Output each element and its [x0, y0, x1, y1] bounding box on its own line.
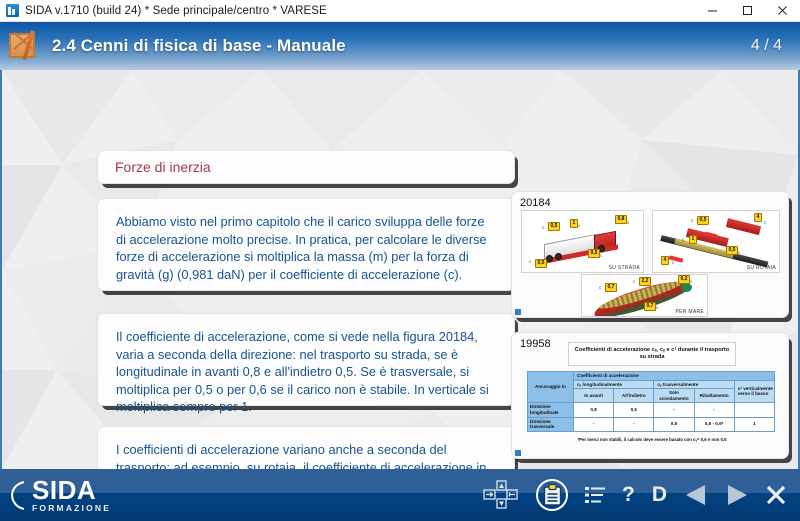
figure-corner-marker [515, 309, 521, 315]
table-cell: 0,5 [614, 403, 654, 417]
tag-road-1: 0,5 [548, 222, 560, 231]
table-colgroup-y: cᵧ trasversalmente [654, 380, 734, 389]
swoosh-icon [8, 479, 30, 513]
table-row-label-longitudinal: Direzione longitudinale [528, 403, 574, 417]
window-controls [695, 0, 800, 22]
footer-toolbar: SIDA FORMAZIONE [0, 469, 800, 521]
tag-rail-4: 0,5 [726, 246, 738, 255]
tag-sea-4: 0,7 [644, 302, 656, 311]
page-title: 2.4 Cenni di fisica di base - Manuale [52, 36, 346, 56]
figure-number-20184: 20184 [520, 197, 551, 209]
table-cell: - [614, 417, 654, 431]
tag-road-5: 0,5 [535, 259, 547, 268]
paragraph-card-2: Il coefficiente di accelerazione, come s… [97, 313, 515, 406]
section-title-card: Forze di inerzia [97, 150, 515, 184]
paragraph-text-1: Abbiamo visto nel primo capitolo che il … [116, 213, 496, 283]
next-icon[interactable] [725, 484, 749, 506]
previous-icon[interactable] [684, 484, 708, 506]
logo-secondary-text: FORMAZIONE [32, 504, 111, 513]
navigation-toolbar: ? D [483, 479, 786, 511]
tag-road-2: 1 [570, 219, 578, 228]
transport-panel-sea: c 0,7 c 2,2 0,2 c 0,7 c PER MARE [581, 274, 708, 317]
list-icon[interactable] [585, 485, 605, 505]
tag-rail-5: 4 [661, 256, 669, 265]
table-colgroup-z: cᶻ verticalmente verso il basso [734, 380, 774, 403]
transport-label-rail: SU ROTAIA [747, 265, 776, 271]
tag-rail-2: 4 [754, 213, 762, 222]
table-cell: - [574, 417, 614, 431]
tag-sea-1: 0,7 [605, 283, 617, 292]
table-subheader-forward: In avanti [574, 389, 614, 403]
table-row-label-transverse: Direzione trasversale [528, 417, 574, 431]
paragraph-text-3: I coefficienti di accelerazione variano … [116, 441, 496, 469]
table-title: Coefficienti di accelerazione cₓ, cᵧ e c… [568, 342, 736, 366]
tag-road-3: 0,8 [615, 215, 627, 224]
transport-label-sea: PER MARE [675, 309, 704, 315]
section-title: Forze di inerzia [98, 159, 211, 175]
tag-rail-1: 0,5 [697, 216, 709, 225]
application-window: SIDA v.1710 (build 24) * Sede principale… [0, 0, 800, 521]
minimize-icon[interactable] [695, 0, 730, 22]
tag-rail-3: 1 [689, 235, 697, 244]
table-row: Direzione longitudinale 0,8 0,5 - - [528, 403, 775, 417]
table-footnote: *Per merci non stabili, il calcolo deve … [542, 437, 762, 442]
help-icon[interactable]: ? [622, 483, 635, 507]
logo-primary-text: SIDA [32, 477, 111, 503]
table-cell [734, 403, 774, 417]
paragraph-card-1: Abbiamo visto nel primo capitolo che il … [97, 198, 515, 291]
table-corner-header: Ancoraggio in [528, 372, 574, 403]
transport-panel-road: c 0,5 1 c 0,8 c 0,5 c 0,5 c SU STRADA [521, 210, 644, 273]
table-subheader-sliding: Solo scivolamento [654, 389, 694, 403]
acceleration-coefficients-table: Ancoraggio in Coefficienti di accelerazi… [527, 371, 775, 432]
tag-sea-2: 2,2 [639, 277, 651, 286]
tag-road-4: 0,5 [588, 249, 600, 258]
table-cell: - [694, 403, 734, 417]
document-icon[interactable] [536, 479, 568, 511]
table-group-header: Coefficienti di accelerazione [574, 372, 775, 381]
paragraph-text-2: Il coefficiente di accelerazione, come s… [116, 328, 496, 416]
maximize-icon[interactable] [730, 0, 765, 22]
tag-sea-3: 0,2 [678, 275, 690, 284]
table-cell: - [654, 403, 694, 417]
window-title: SIDA v.1710 (build 24) * Sede principale… [25, 5, 327, 17]
table-cell: 1 [734, 417, 774, 431]
table-header-row-1: Ancoraggio in Coefficienti di accelerazi… [528, 372, 775, 381]
close-icon[interactable] [765, 0, 800, 22]
figure-corner-marker [515, 450, 521, 456]
figure-19958[interactable]: 19958 Coefficienti di accelerazione cₓ, … [511, 332, 789, 459]
transport-panel-rail: c 0,5 4 c c 1 0,5 c 4 c SU ROTAIA [652, 210, 780, 273]
sida-app-icon [6, 4, 19, 17]
transport-label-road: SU STRADA [609, 265, 640, 271]
close-icon[interactable] [766, 485, 786, 505]
figure-number-19958: 19958 [520, 338, 551, 350]
figure-20184[interactable]: 20184 c 0,5 1 c 0,8 c 0,5 c 0,5 c SU STR… [511, 191, 789, 318]
page-indicator: 4 / 4 [751, 37, 782, 55]
table-row: Direzione trasversale - - 0,5 0,5 - 0,6*… [528, 417, 775, 431]
window-title-bar: SIDA v.1710 (build 24) * Sede principale… [0, 0, 800, 22]
dictionary-icon[interactable]: D [652, 483, 667, 507]
sida-logo: SIDA FORMAZIONE [8, 477, 111, 513]
slide-content: Forze di inerzia Abbiamo visto nel primo… [0, 70, 800, 469]
table-colgroup-x: cₓ longitudinalmente [574, 380, 654, 389]
table-cell: 0,5 [654, 417, 694, 431]
lesson-header: 2.4 Cenni di fisica di base - Manuale 4 … [0, 22, 800, 70]
table-subheader-tipping: Ribaltamento [694, 389, 734, 403]
crate-icon [8, 29, 42, 63]
table-cell: 0,8 [574, 403, 614, 417]
table-cell: 0,5 - 0,6* [694, 417, 734, 431]
paragraph-card-3: I coefficienti di accelerazione variano … [97, 426, 515, 469]
table-subheader-backward: All'indietro [614, 389, 654, 403]
navigation-dpad-icon[interactable] [483, 480, 519, 510]
